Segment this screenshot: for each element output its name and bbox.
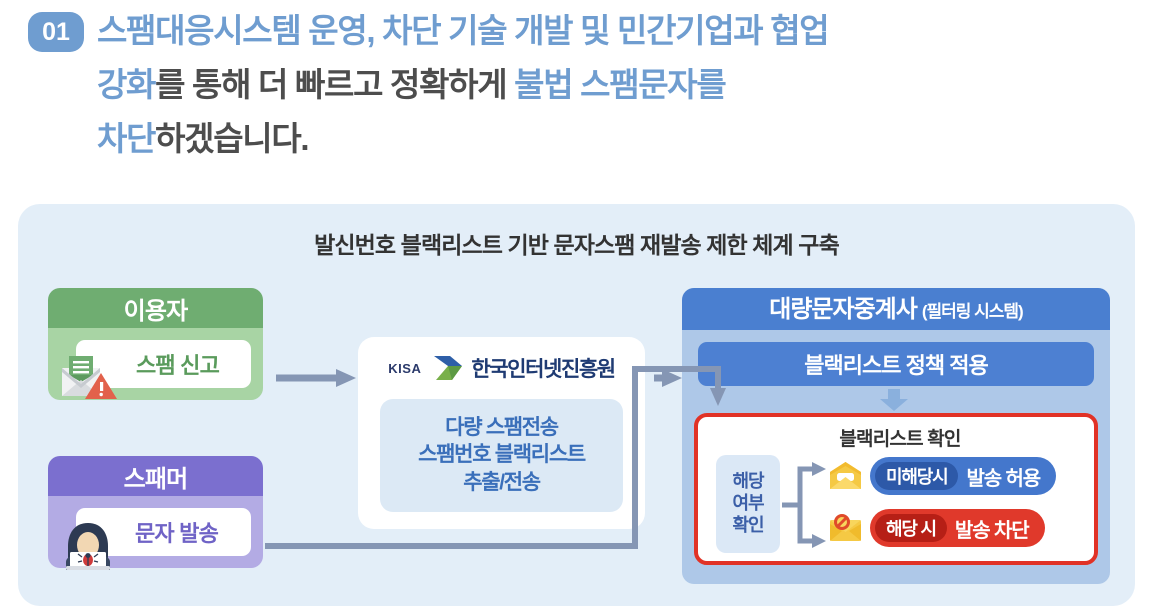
headline-line-1-seg-0: 스팸대응시스템 운영, 차단 기술 개발 및 민간기업과 협업 bbox=[97, 12, 828, 49]
headline-line-3-seg-1: 하겠습니다. bbox=[155, 120, 308, 157]
headline-line-3: 차단하겠습니다. bbox=[97, 122, 308, 155]
headline-line-2-seg-0: 강화 bbox=[97, 66, 155, 103]
connector-spammer-to-blacklist bbox=[265, 369, 726, 546]
arrow-user-to-kisa bbox=[276, 369, 356, 387]
headline-line-2-seg-2: 불법 스팸문자를 bbox=[514, 66, 725, 103]
connector-layer bbox=[18, 204, 1135, 606]
hacker-laptop-icon bbox=[58, 522, 118, 570]
infographic-root: 01 스팸대응시스템 운영, 차단 기술 개발 및 민간기업과 협업 강화를 통… bbox=[0, 0, 1153, 616]
headline-line-2: 강화를 통해 더 빠르고 정확하게 불법 스팸문자를 bbox=[97, 68, 725, 101]
headline-block: 01 스팸대응시스템 운영, 차단 기술 개발 및 민간기업과 협업 강화를 통… bbox=[0, 0, 1153, 186]
section-number-badge: 01 bbox=[28, 12, 84, 52]
diagram-panel: 발신번호 블랙리스트 기반 문자스팸 재발송 제한 체계 구축 이용자 bbox=[18, 204, 1135, 606]
headline-line-2-seg-1: 를 통해 더 빠르고 정확하게 bbox=[155, 66, 514, 103]
headline-line-1: 스팸대응시스템 운영, 차단 기술 개발 및 민간기업과 협업 bbox=[97, 14, 828, 47]
mail-warning-icon bbox=[56, 354, 118, 400]
headline-line-3-seg-0: 차단 bbox=[97, 120, 155, 157]
